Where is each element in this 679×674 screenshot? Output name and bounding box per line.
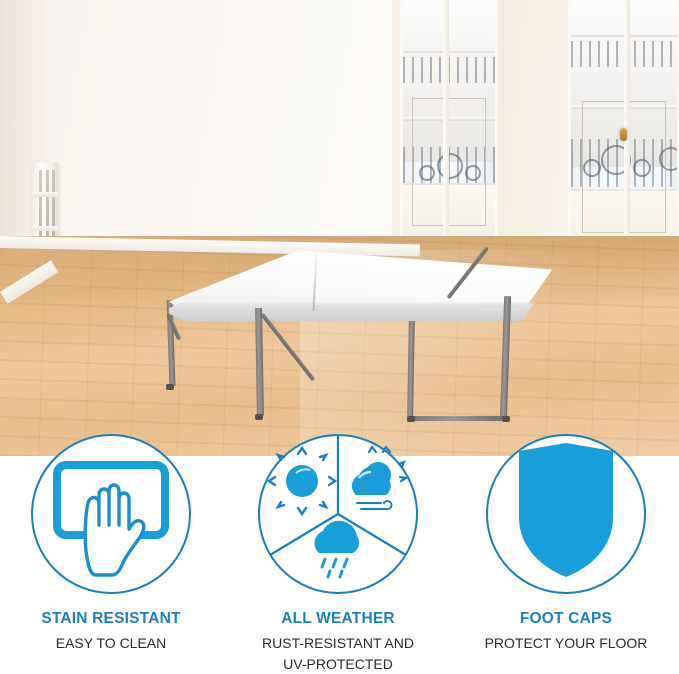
table-leg-front-left — [255, 308, 264, 416]
product-photo — [0, 0, 679, 456]
feature-all-weather: ALL WEATHER RUST-RESISTANT AND UV-PROTEC… — [225, 433, 451, 674]
feature-strip: STAIN RESISTANT EASY TO CLEAN — [0, 456, 679, 668]
feature-title: FOOT CAPS — [453, 609, 679, 628]
feature-title: ALL WEATHER — [225, 609, 451, 628]
table-foot-cap-mid — [255, 414, 263, 420]
table-top-edge — [124, 249, 554, 321]
feature-subtitle: PROTECT YOUR FLOOR — [453, 633, 679, 653]
table-crossbar — [410, 416, 506, 421]
table-leg-back-right — [407, 312, 415, 420]
hand-wiping-tabletop-icon — [30, 433, 192, 595]
feature-subtitle: EASY TO CLEAN — [0, 633, 224, 653]
folding-table — [0, 0, 679, 456]
feature-subtitle-line2: UV-PROTECTED — [225, 654, 451, 674]
table-brace-center — [260, 313, 315, 382]
feature-subtitle-line1: RUST-RESISTANT AND — [225, 633, 451, 653]
feature-title: STAIN RESISTANT — [0, 609, 224, 628]
feature-foot-caps: FOOT CAPS PROTECT YOUR FLOOR — [453, 433, 679, 654]
infographic-canvas: STAIN RESISTANT EASY TO CLEAN — [0, 0, 679, 668]
shield-icon — [485, 433, 647, 595]
weather-trio-icon — [257, 433, 419, 595]
table-foot-cap-left — [166, 384, 174, 390]
table-foot-cap-right — [502, 416, 510, 422]
feature-stain-resistant: STAIN RESISTANT EASY TO CLEAN — [0, 433, 224, 654]
table-foot-cap-back — [407, 416, 415, 422]
